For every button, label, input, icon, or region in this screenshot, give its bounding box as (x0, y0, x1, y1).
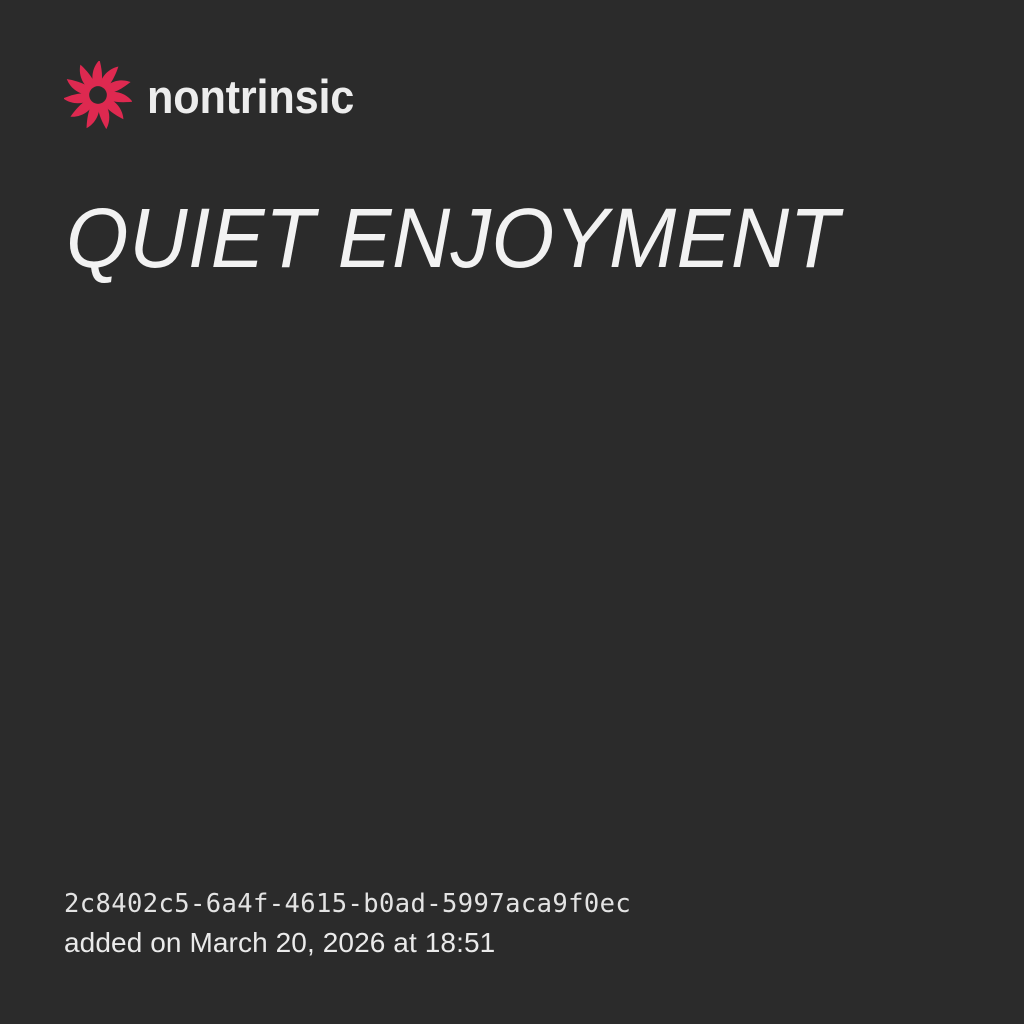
brand-lockup[interactable]: nontrinsic (64, 58, 372, 132)
record-id: 2c8402c5-6a4f-4615-b0ad-5997aca9f0ec (64, 885, 944, 924)
page-title: QUIET ENJOYMENT (66, 196, 930, 280)
brand-wordmark: nontrinsic (147, 70, 354, 120)
title-card: nontrinsic QUIET ENJOYMENT 2c8402c5-6a4f… (0, 0, 1024, 1024)
record-meta: 2c8402c5-6a4f-4615-b0ad-5997aca9f0ec add… (64, 885, 944, 962)
spiral-pinwheel-icon (64, 61, 132, 129)
record-added-timestamp: added on March 20, 2026 at 18:51 (64, 924, 944, 962)
